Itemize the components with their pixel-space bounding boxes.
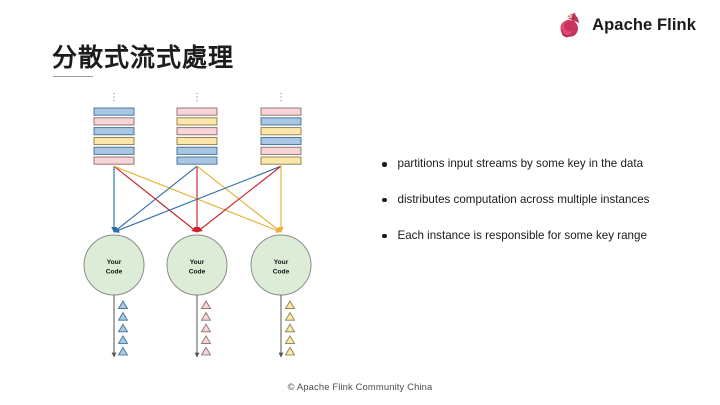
output-record-pink [202, 301, 211, 309]
record-bar-blue [94, 108, 134, 115]
record-bar-pink [177, 108, 217, 115]
brand-logo: Apache Flink [553, 10, 696, 40]
record-bar-yellow [261, 157, 301, 164]
bullet-text: partitions input streams by some key in … [398, 156, 644, 173]
stream-ellipsis-icon: ⋮ [192, 92, 202, 103]
output-record-blue [119, 313, 128, 321]
record-bar-blue [261, 137, 301, 144]
flink-squirrel-logo-icon [553, 10, 583, 40]
output-record-pink [202, 336, 211, 344]
slide-root: Apache Flink 分散式流式處理 ⋮YourCode⋮YourCode⋮… [0, 0, 720, 405]
record-bar-pink [177, 128, 217, 135]
bullet-dot-icon [382, 198, 387, 203]
brand-name: Apache Flink [592, 16, 696, 35]
bullet-dot-icon [382, 234, 387, 239]
dataflow-diagram: ⋮YourCode⋮YourCode⋮YourCode [0, 0, 360, 405]
output-record-pink [202, 324, 211, 332]
output-record-yellow [286, 347, 295, 355]
output-record-blue [119, 336, 128, 344]
record-bar-yellow [261, 128, 301, 135]
list-item: distributes computation across multiple … [382, 192, 650, 209]
operator-label-line1: Your [274, 259, 289, 266]
operator-label-line2: Code [273, 269, 290, 276]
stream-ellipsis-icon: ⋮ [276, 92, 286, 103]
bullet-text: Each instance is responsible for some ke… [398, 228, 647, 245]
output-record-yellow [286, 336, 295, 344]
list-item: Each instance is responsible for some ke… [382, 228, 650, 245]
operator-label-line1: Your [190, 259, 205, 266]
record-bar-pink [94, 118, 134, 125]
footer-copyright: © Apache Flink Community China [0, 381, 720, 392]
operator-label-line2: Code [189, 269, 206, 276]
operator-label-line1: Your [107, 259, 122, 266]
bullet-dot-icon [382, 162, 387, 167]
output-record-yellow [286, 324, 295, 332]
bullet-text: distributes computation across multiple … [398, 192, 650, 209]
record-bar-blue [94, 147, 134, 154]
record-bar-pink [94, 157, 134, 164]
list-item: partitions input streams by some key in … [382, 156, 650, 173]
operator-label-line2: Code [106, 269, 123, 276]
output-record-yellow [286, 301, 295, 309]
output-record-blue [119, 324, 128, 332]
output-record-pink [202, 347, 211, 355]
diagram-canvas: ⋮YourCode⋮YourCode⋮YourCode [0, 0, 360, 405]
record-bar-yellow [177, 118, 217, 125]
output-record-pink [202, 313, 211, 321]
record-bar-blue [94, 128, 134, 135]
record-bar-pink [261, 108, 301, 115]
record-bar-blue [177, 147, 217, 154]
record-bar-yellow [177, 137, 217, 144]
stream-ellipsis-icon: ⋮ [109, 92, 119, 103]
record-bar-blue [177, 157, 217, 164]
record-bar-yellow [94, 137, 134, 144]
edge-group [114, 166, 281, 232]
output-record-blue [119, 347, 128, 355]
output-record-yellow [286, 313, 295, 321]
record-bar-pink [261, 147, 301, 154]
output-record-blue [119, 301, 128, 309]
record-bar-blue [261, 118, 301, 125]
bullet-list: partitions input streams by some key in … [382, 156, 650, 263]
